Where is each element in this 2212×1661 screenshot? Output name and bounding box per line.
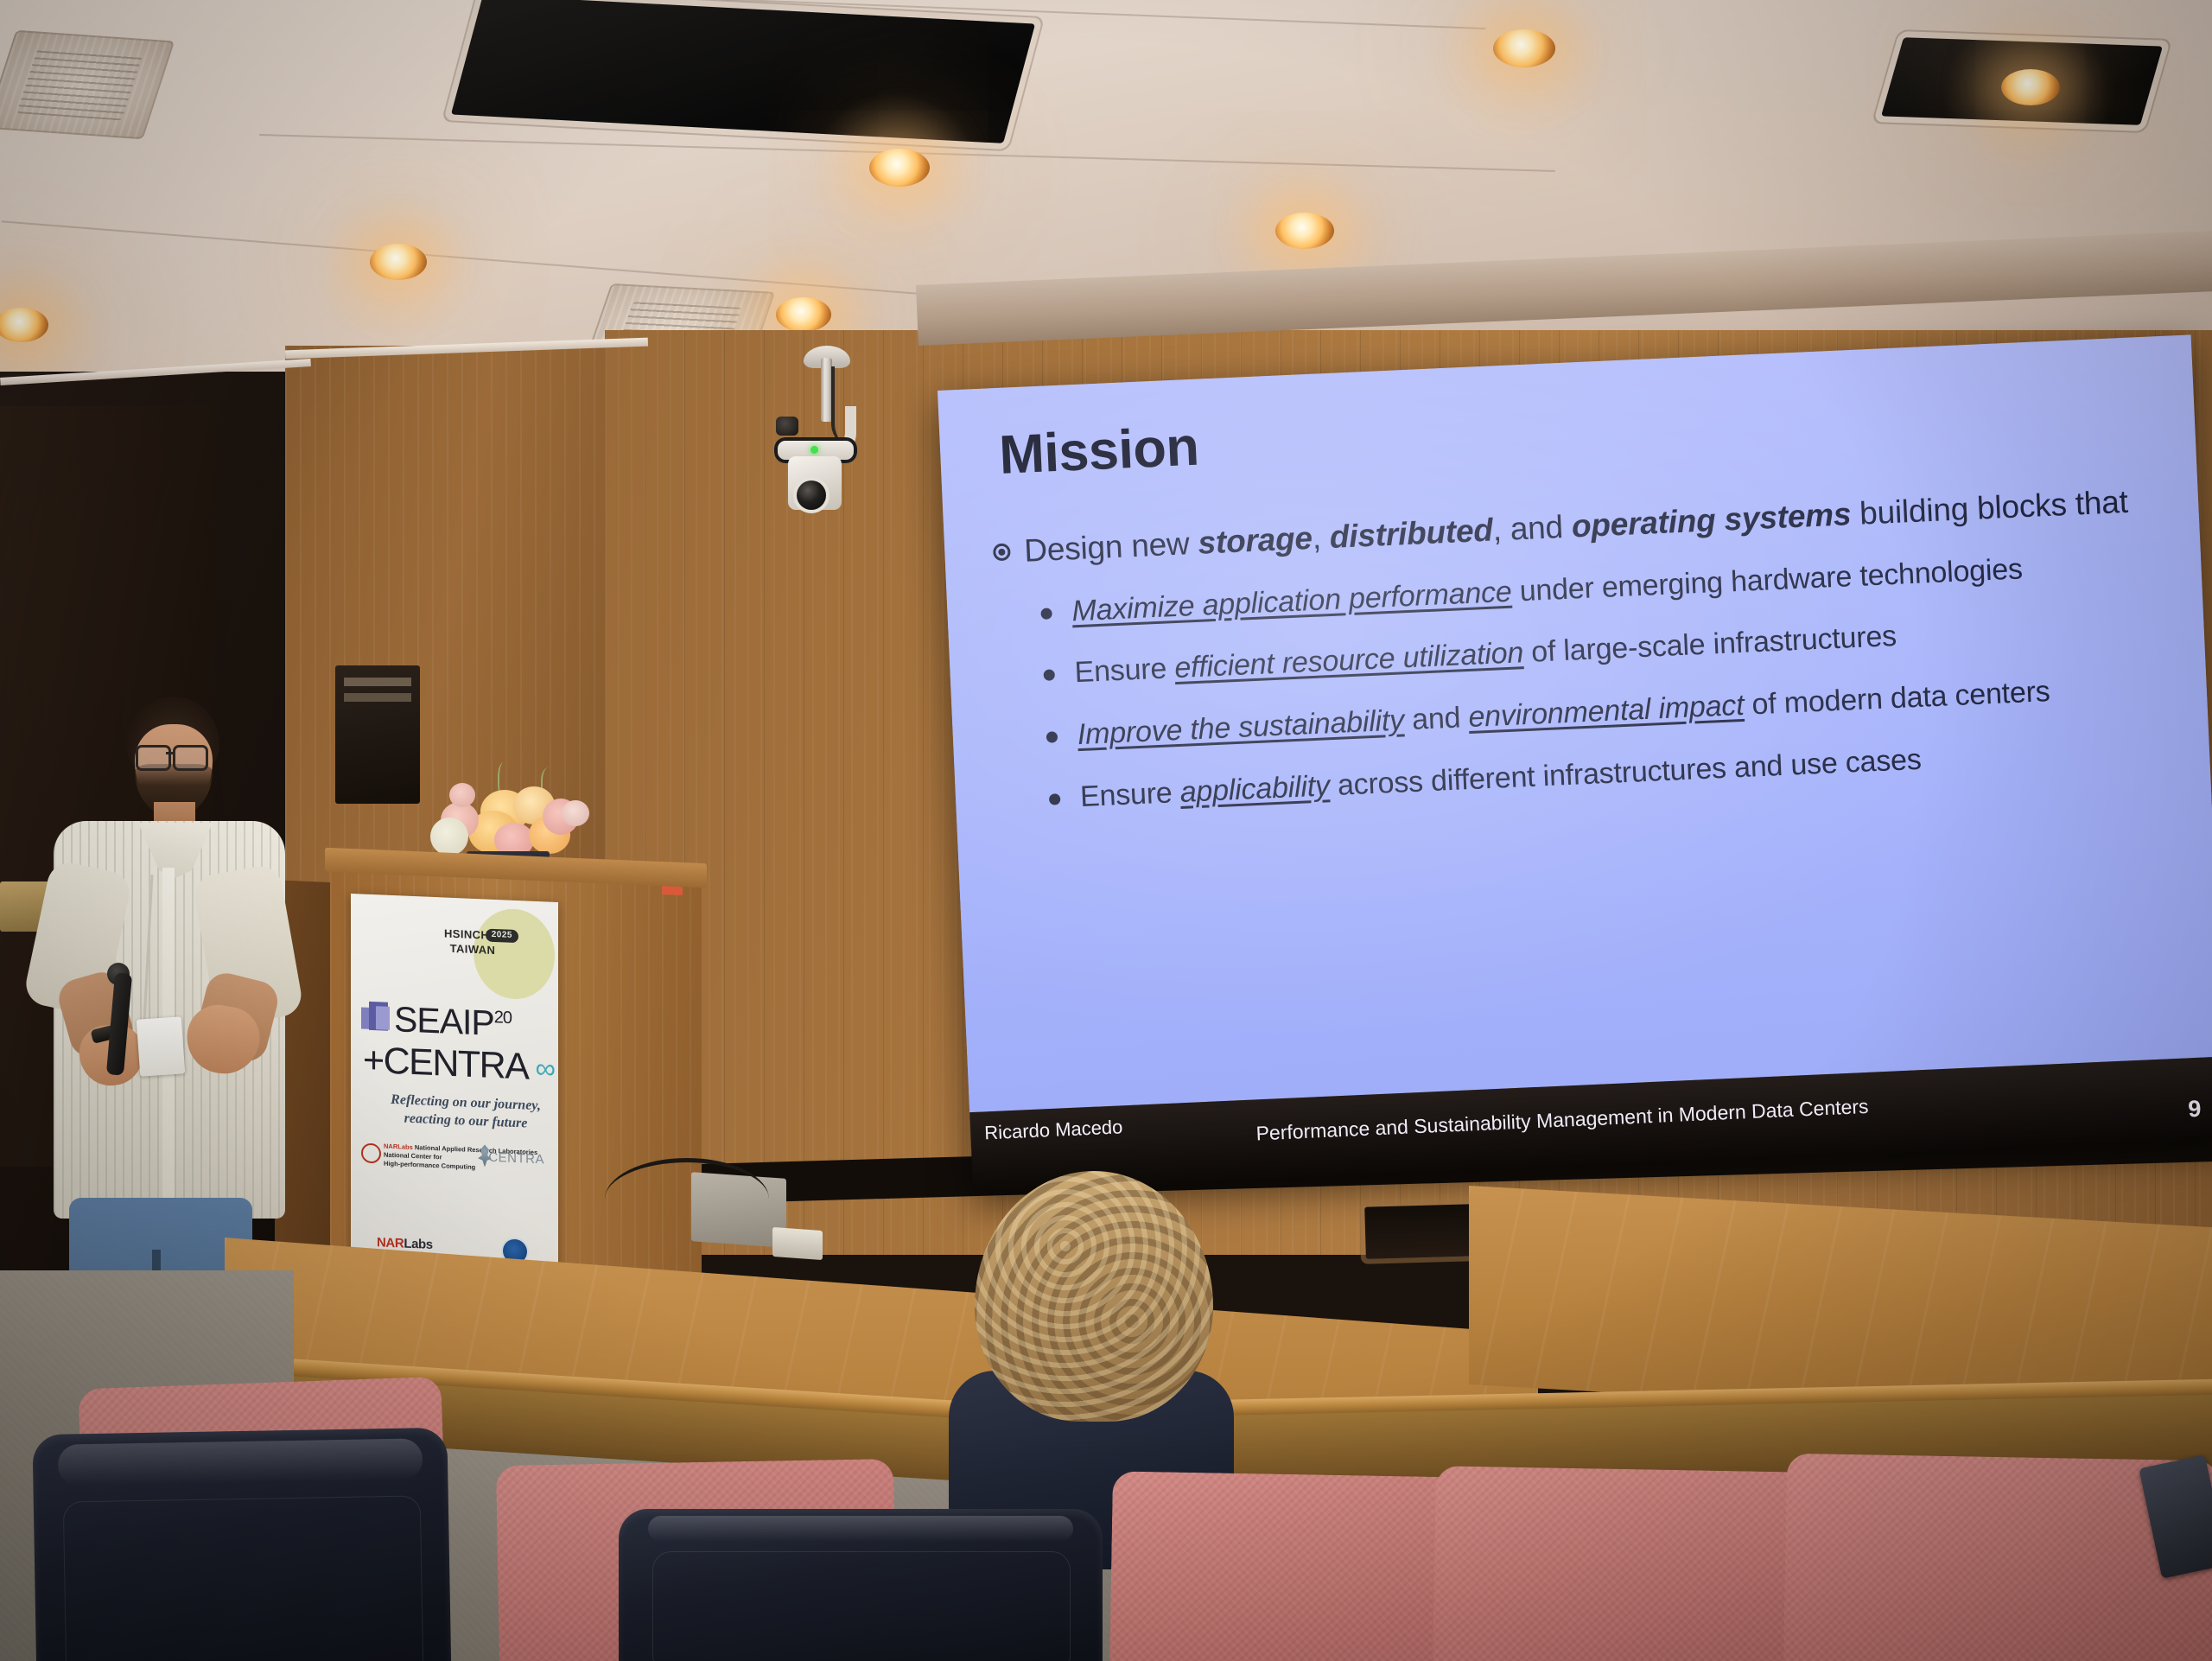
equipment-rack-slot <box>344 678 411 686</box>
slide-bullet-list: Design new storage, distributed, and ope… <box>988 481 2185 845</box>
banner-location-line2: TAIWAN <box>422 940 524 959</box>
seat-highlight <box>648 1516 1074 1542</box>
bullet-run-emphasis: storage <box>1198 520 1313 561</box>
banner-location: 2025 HSINCHU, TAIWAN <box>422 926 524 958</box>
banner-event-second-line: +CENTRA ∞ <box>363 1040 555 1090</box>
seat-fabric <box>1433 1466 1816 1661</box>
camera-adjust-knob <box>776 417 798 436</box>
presentation-slide: Mission Design new storage, distributed,… <box>938 334 2212 1112</box>
ceiling-downlight <box>1493 29 1555 67</box>
floor-cable <box>605 1158 769 1240</box>
glasses-bridge <box>166 752 175 754</box>
ceiling-downlight <box>2001 69 2060 105</box>
bullet-run: Ensure <box>1079 776 1180 813</box>
bullet-run-emphasis: Improve the sustainability <box>1077 704 1405 752</box>
dot-bullet-icon <box>1040 608 1052 620</box>
glasses-icon <box>136 745 171 771</box>
radio-bullet-icon <box>993 543 1011 561</box>
slide-footer-talk-title: Performance and Sustainability Managemen… <box>1255 1095 1869 1146</box>
bullet-run-emphasis: Maximize application performance <box>1071 575 1513 627</box>
slide-page-number: 9 <box>2188 1096 2202 1123</box>
bullet-run: across different infrastructures and use… <box>1329 743 1922 802</box>
ceiling-downlight <box>370 244 427 280</box>
slide-title: Mission <box>998 416 1200 487</box>
seat-highlight <box>57 1438 423 1486</box>
dot-bullet-icon <box>1049 793 1061 805</box>
bullet-run: , and <box>1492 509 1573 548</box>
infinity-icon: ∞ <box>535 1052 554 1085</box>
bullet-run: and <box>1403 701 1469 736</box>
banner-event-name-text: SEAIP <box>394 999 494 1043</box>
conference-banner: 2025 HSINCHU, TAIWAN SEAIP20 +CENTRA ∞ R… <box>351 894 558 1289</box>
bullet-run: Design new <box>1023 525 1198 569</box>
auditorium-photo: Mission Design new storage, distributed,… <box>0 0 2212 1661</box>
projection-screen[interactable]: Mission Design new storage, distributed,… <box>938 334 2212 1193</box>
banner-year-badge: 2025 <box>486 929 518 943</box>
seat[interactable] <box>1433 1466 1816 1661</box>
dot-bullet-icon <box>1044 670 1056 682</box>
bullet-run: building blocks that <box>1850 484 2128 531</box>
narlabs-prefix: NARLabs <box>384 1142 413 1151</box>
bullet-run-emphasis: operating systems <box>1571 496 1852 544</box>
banner-tagline: Reflecting on our journey, reacting to o… <box>380 1090 551 1134</box>
banner-event-name: SEAIP20 <box>394 999 512 1045</box>
dot-bullet-icon <box>1046 731 1058 743</box>
banner-org-logos: NARLabs National Applied Research Labora… <box>361 1139 550 1181</box>
flower <box>430 818 468 856</box>
ceiling-downlight <box>1275 213 1334 249</box>
flower-arrangement <box>430 769 588 864</box>
ceiling-downlight <box>869 149 930 187</box>
banner-event-superscript: 20 <box>494 1008 512 1028</box>
bullet-run: Ensure <box>1074 652 1175 690</box>
seat-front-left[interactable] <box>32 1428 451 1661</box>
seat-front-middle[interactable] <box>619 1509 1103 1661</box>
bullet-run-emphasis: distributed <box>1329 512 1494 555</box>
slide-footer-presenter: Ricardo Macedo <box>984 1116 1123 1144</box>
name-badge <box>137 1016 185 1076</box>
equipment-rack <box>335 665 420 804</box>
bullet-run-emphasis: applicability <box>1179 769 1331 809</box>
floor-cable-cover <box>772 1227 823 1260</box>
centra-logo-text: CENTRA <box>488 1150 544 1168</box>
seaip-logo-icon <box>361 1001 391 1033</box>
camera-status-led <box>810 446 818 454</box>
bullet-run: under emerging hardware technologies <box>1511 552 2024 608</box>
bullet-run-emphasis: efficient resource utilization <box>1174 637 1524 685</box>
bullet-run-emphasis: environmental impact <box>1468 689 1745 734</box>
seat[interactable] <box>1109 1471 1476 1661</box>
bullet-run: , <box>1312 519 1331 556</box>
banner-centra-text: +CENTRA <box>363 1040 526 1088</box>
camera-lens <box>797 480 826 510</box>
bullet-run: of large-scale infrastructures <box>1522 620 1897 669</box>
seat-fabric <box>1109 1471 1476 1661</box>
nchc-seal-icon <box>361 1142 381 1163</box>
flower <box>562 800 589 826</box>
equipment-rack-slot <box>344 693 411 702</box>
ceiling-downlight <box>776 297 831 332</box>
bullet-run: of modern data centers <box>1743 675 2050 722</box>
lectern-label <box>662 886 683 895</box>
glasses-icon <box>173 745 208 771</box>
flower <box>449 783 475 807</box>
